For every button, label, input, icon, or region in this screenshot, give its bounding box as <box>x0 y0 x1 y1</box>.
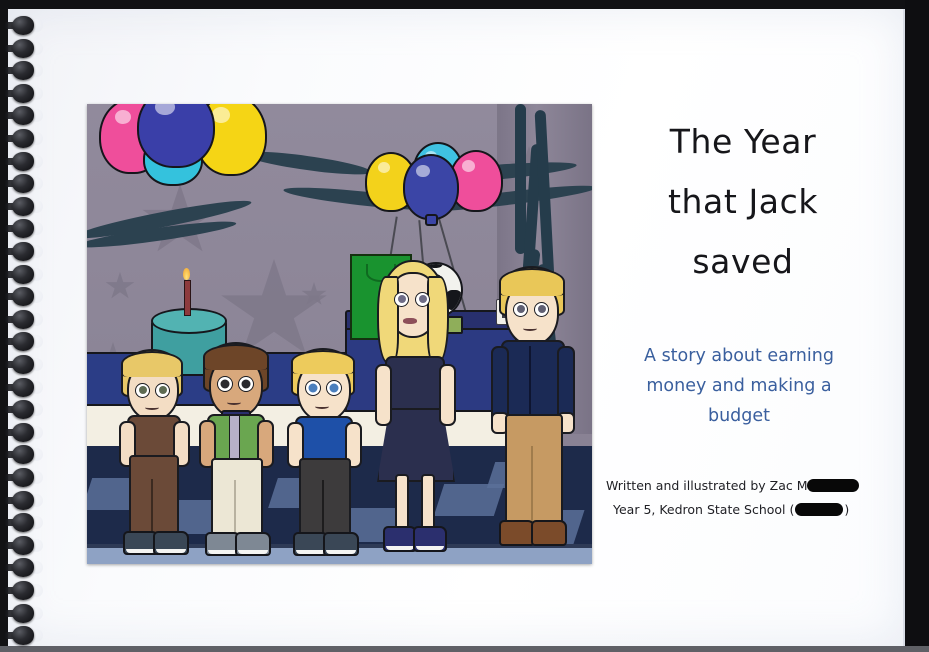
hair-side-right <box>427 276 449 364</box>
legs <box>505 414 563 528</box>
hair-fringe <box>121 351 183 377</box>
coil-ring <box>12 310 34 329</box>
binding-coil <box>4 128 48 149</box>
coil-ring <box>12 400 34 419</box>
coil-ring <box>12 558 34 577</box>
binding-coil <box>4 535 48 556</box>
credit-line-1: Written and illustrated by Zac M <box>606 474 906 498</box>
cover-title: The Year that Jack saved <box>608 112 878 292</box>
binding-coil <box>4 467 48 488</box>
binding-coil <box>4 15 48 36</box>
coil-ring <box>12 536 34 555</box>
binding-coil <box>4 444 48 465</box>
sandal-left <box>383 526 417 552</box>
binding-coil <box>4 399 48 420</box>
binding-coil <box>4 557 48 578</box>
eye-left <box>513 302 528 317</box>
cover-subtitle: A story about earning money and making a… <box>613 341 865 431</box>
scan-edge-top <box>0 0 929 9</box>
binding-coil <box>4 38 48 59</box>
coil-ring <box>12 61 34 80</box>
credit-author-text: Written and illustrated by Zac M <box>606 478 808 493</box>
eye-right <box>415 292 430 307</box>
binding-coil <box>4 218 48 239</box>
coil-ring <box>12 84 34 103</box>
shoe-right <box>323 532 359 556</box>
balloon-blue <box>403 154 459 220</box>
binding-coil <box>4 331 48 352</box>
hair-side-left <box>377 276 399 364</box>
title-line-3: saved <box>608 232 878 292</box>
page-edge <box>903 9 905 646</box>
hair-fringe <box>499 268 565 296</box>
shoe-left <box>499 520 535 546</box>
hair-fringe <box>291 350 355 374</box>
binding-coil <box>4 60 48 81</box>
character-boy-overalls <box>111 349 195 561</box>
mouth <box>315 404 329 409</box>
eye-left <box>135 383 150 398</box>
legs-gap <box>531 446 533 524</box>
character-man-navy-shirt <box>487 266 579 560</box>
binding-coil <box>4 490 48 511</box>
leg-right <box>421 474 435 534</box>
hair-fringe <box>203 344 269 370</box>
subtitle-line-2: money and making a <box>613 371 865 401</box>
coil-ring <box>12 242 34 261</box>
cover-illustration <box>87 104 592 564</box>
binding-coil <box>4 286 48 307</box>
legs-gap <box>234 480 236 534</box>
mouth <box>523 326 537 331</box>
binding-coil <box>4 196 48 217</box>
candle-flame <box>183 268 190 280</box>
character-boy-green-shirt <box>193 342 279 562</box>
redaction-bar-detail <box>795 503 843 516</box>
binding-coil <box>4 354 48 375</box>
shoe-right <box>153 531 189 555</box>
coil-ring <box>12 197 34 216</box>
mouth <box>403 318 417 324</box>
scan-edge-right <box>905 0 929 652</box>
coil-ring <box>12 332 34 351</box>
title-line-2: that Jack <box>608 172 878 232</box>
arm-right <box>439 364 456 426</box>
binding-coil <box>4 241 48 262</box>
binding-coil <box>4 264 48 285</box>
shoe-right <box>531 520 567 546</box>
binding-coil <box>4 422 48 443</box>
eye-right <box>155 383 170 398</box>
legs <box>129 455 179 537</box>
coil-ring <box>12 16 34 35</box>
binding-coil <box>4 512 48 533</box>
legs <box>299 458 351 538</box>
binding-coil <box>4 309 48 330</box>
coil-ring <box>12 604 34 623</box>
coil-ring <box>12 106 34 125</box>
legs <box>211 458 263 538</box>
shoe-right <box>235 532 271 556</box>
coil-ring <box>12 491 34 510</box>
eye-left <box>305 380 321 396</box>
coil-ring <box>12 581 34 600</box>
credit-close-paren: ) <box>844 502 849 517</box>
subtitle-line-3: budget <box>613 401 865 431</box>
coil-ring <box>12 265 34 284</box>
leg-left <box>395 474 409 534</box>
legs-gap <box>322 480 324 534</box>
book-cover-page: The Year that Jack saved A story about e… <box>8 9 905 646</box>
legs-gap <box>151 479 153 533</box>
cover-credit: Written and illustrated by Zac M Year 5,… <box>606 474 906 522</box>
subtitle-line-1: A story about earning <box>613 341 865 371</box>
coil-ring <box>12 355 34 374</box>
torso-dress-top <box>385 356 445 416</box>
credit-school-text: Year 5, Kedron State School ( <box>613 502 794 517</box>
coil-ring <box>12 152 34 171</box>
coil-ring <box>12 219 34 238</box>
eye-right <box>238 376 254 392</box>
coil-ring <box>12 287 34 306</box>
eye-right <box>534 302 549 317</box>
binding-coil <box>4 83 48 104</box>
torso <box>501 340 565 422</box>
coil-ring <box>12 129 34 148</box>
arm-left <box>375 364 392 426</box>
coil-ring <box>12 445 34 464</box>
character-boy-blue-polo <box>281 348 367 562</box>
coil-ring <box>12 468 34 487</box>
binding-coil <box>4 151 48 172</box>
redaction-bar-surname <box>807 479 859 492</box>
eye-right <box>326 380 342 396</box>
mouth <box>227 400 241 405</box>
title-line-1: The Year <box>608 112 878 172</box>
birthday-candle <box>184 280 191 316</box>
shirt-buttons <box>529 346 531 414</box>
binding-coil <box>4 580 48 601</box>
coil-ring <box>12 378 34 397</box>
scan-edge-bottom <box>0 646 929 652</box>
character-woman-navy-dress <box>369 260 459 560</box>
binding-coil <box>4 173 48 194</box>
coil-ring <box>12 423 34 442</box>
mouth <box>145 405 159 410</box>
binding-coil <box>4 377 48 398</box>
coil-ring <box>12 513 34 532</box>
binding-coil <box>4 603 48 624</box>
spiral-binding <box>0 9 52 646</box>
eye-left <box>394 292 409 307</box>
eye-left <box>217 376 233 392</box>
credit-line-2: Year 5, Kedron State School () <box>606 498 906 522</box>
coil-ring <box>12 626 34 645</box>
scanned-page-viewport: The Year that Jack saved A story about e… <box>0 0 929 652</box>
binding-coil <box>4 625 48 646</box>
binding-coil <box>4 105 48 126</box>
balloon-knot <box>425 214 438 226</box>
sandal-right <box>413 526 447 552</box>
coil-ring <box>12 39 34 58</box>
shirt-placket <box>229 416 240 460</box>
coil-ring <box>12 174 34 193</box>
